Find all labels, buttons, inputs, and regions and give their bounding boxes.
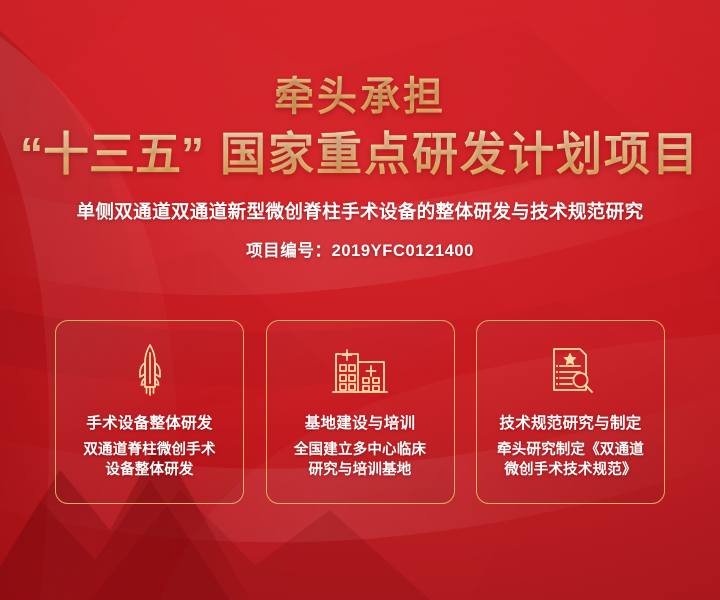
title-quoted-term: “十三五” [20,128,204,180]
feature-card-desc-line: 研究与培训基地 [294,461,426,481]
feature-card-desc-line: 牵头研究制定《双通道 [497,441,644,461]
feature-card-desc-line: 全国建立多中心临床 [294,441,426,461]
page-title-primary: 牵头承担 [0,0,720,118]
feature-card-description: 全国建立多中心临床 研究与培训基地 [286,441,434,480]
feature-card-desc-line: 微创手术技术规范》 [497,461,644,481]
feature-card-list: 手术设备整体研发 双通道脊柱微创手术 设备整体研发 [55,320,665,504]
feature-card-description: 双通道脊柱微创手术 设备整体研发 [75,441,223,480]
poster-banner: 牵头承担 “十三五”国家重点研发计划项目 单侧双通道双通道新型微创脊柱手术设备的… [0,0,720,600]
feature-card-desc-line: 双通道脊柱微创手术 [83,441,215,461]
page-subtitle: 单侧双通道双通道新型微创脊柱手术设备的整体研发与技术规范研究 [0,178,720,224]
rocket-icon [134,343,166,397]
feature-card-title: 基地建设与培训 [305,411,416,433]
feature-card[interactable]: 技术规范研究与制定 牵头研究制定《双通道 微创手术技术规范》 [476,320,665,504]
poster-header: 牵头承担 “十三五”国家重点研发计划项目 单侧双通道双通道新型微创脊柱手术设备的… [0,0,720,261]
feature-card[interactable]: 手术设备整体研发 双通道脊柱微创手术 设备整体研发 [55,320,244,504]
title-secondary-rest: 国家重点研发计划项目 [220,128,700,180]
feature-card-description: 牵头研究制定《双通道 微创手术技术规范》 [489,441,652,480]
feature-card[interactable]: 基地建设与培训 全国建立多中心临床 研究与培训基地 [266,320,455,504]
feature-card-desc-line: 设备整体研发 [83,461,215,481]
hospital-building-icon [332,343,388,397]
document-magnifier-icon [546,343,596,397]
project-number: 项目编号：2019YFC0121400 [0,224,720,261]
page-title-secondary: “十三五”国家重点研发计划项目 [0,118,720,178]
feature-card-title: 技术规范研究与制定 [499,411,641,433]
feature-card-title: 手术设备整体研发 [86,411,212,433]
